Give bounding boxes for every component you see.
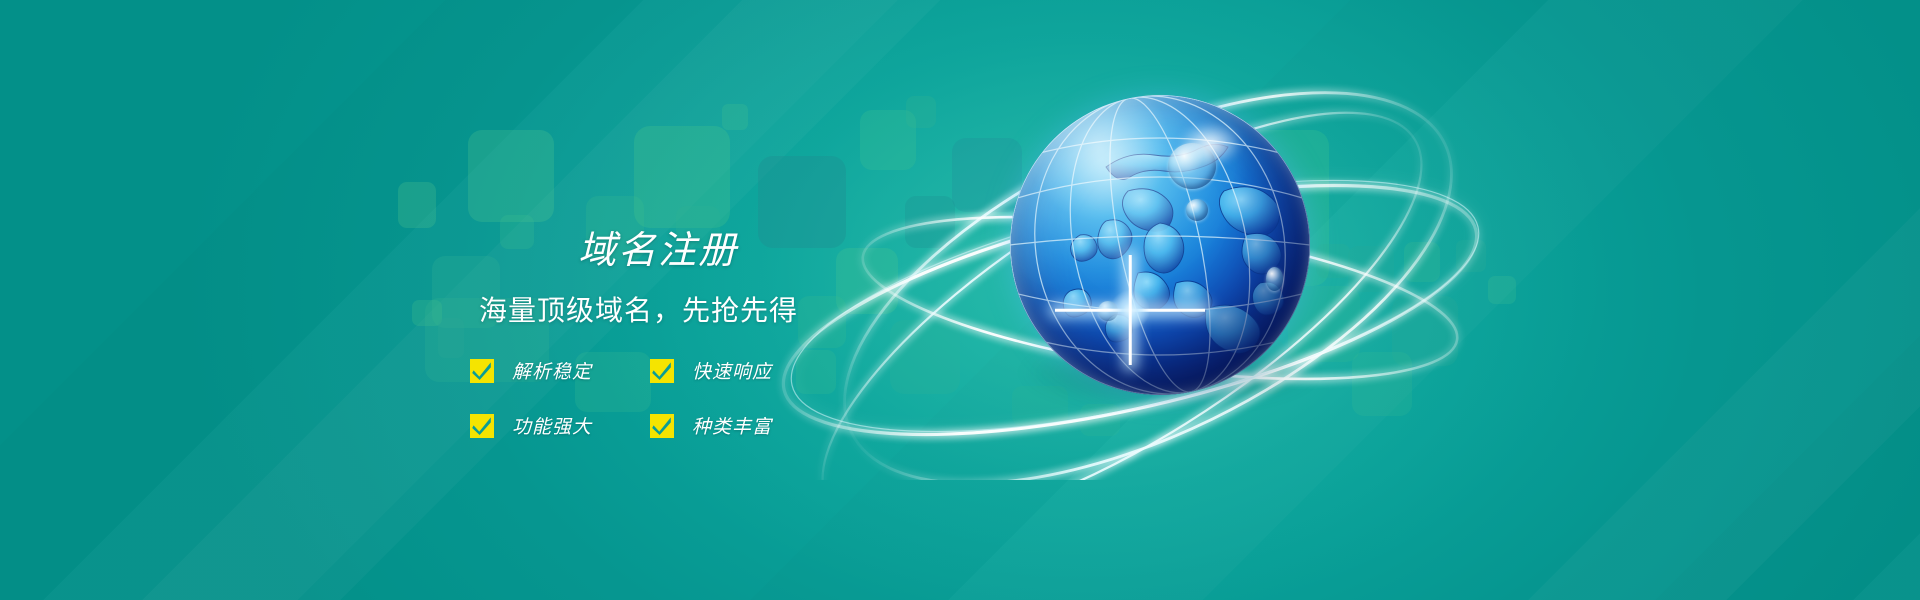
- feature-row: 解析稳定 快速响应: [470, 343, 830, 398]
- feature-label: 解析稳定: [512, 357, 592, 384]
- banner-copy: 域名注册 海量顶级域名，先抢先得 解析稳定 快速响应: [0, 0, 1920, 600]
- feature-label: 快速响应: [692, 357, 772, 384]
- check-square-icon: [470, 414, 494, 438]
- check-square-icon: [650, 414, 674, 438]
- feature-item-3: 种类丰富: [650, 412, 830, 439]
- feature-label: 种类丰富: [692, 412, 772, 439]
- feature-item-1: 快速响应: [650, 357, 830, 384]
- page-title: 域名注册: [578, 232, 738, 270]
- feature-label: 功能强大: [512, 412, 592, 439]
- check-square-icon: [470, 359, 494, 383]
- banner-subtitle: 海量顶级域名，先抢先得: [479, 297, 798, 325]
- feature-item-2: 功能强大: [470, 412, 650, 439]
- check-square-icon: [650, 359, 674, 383]
- feature-row: 功能强大 种类丰富: [470, 398, 830, 453]
- feature-item-0: 解析稳定: [470, 357, 650, 384]
- feature-list: 解析稳定 快速响应 功能强大: [470, 343, 830, 453]
- domain-registration-banner: 域名注册 海量顶级域名，先抢先得 解析稳定 快速响应: [0, 0, 1920, 600]
